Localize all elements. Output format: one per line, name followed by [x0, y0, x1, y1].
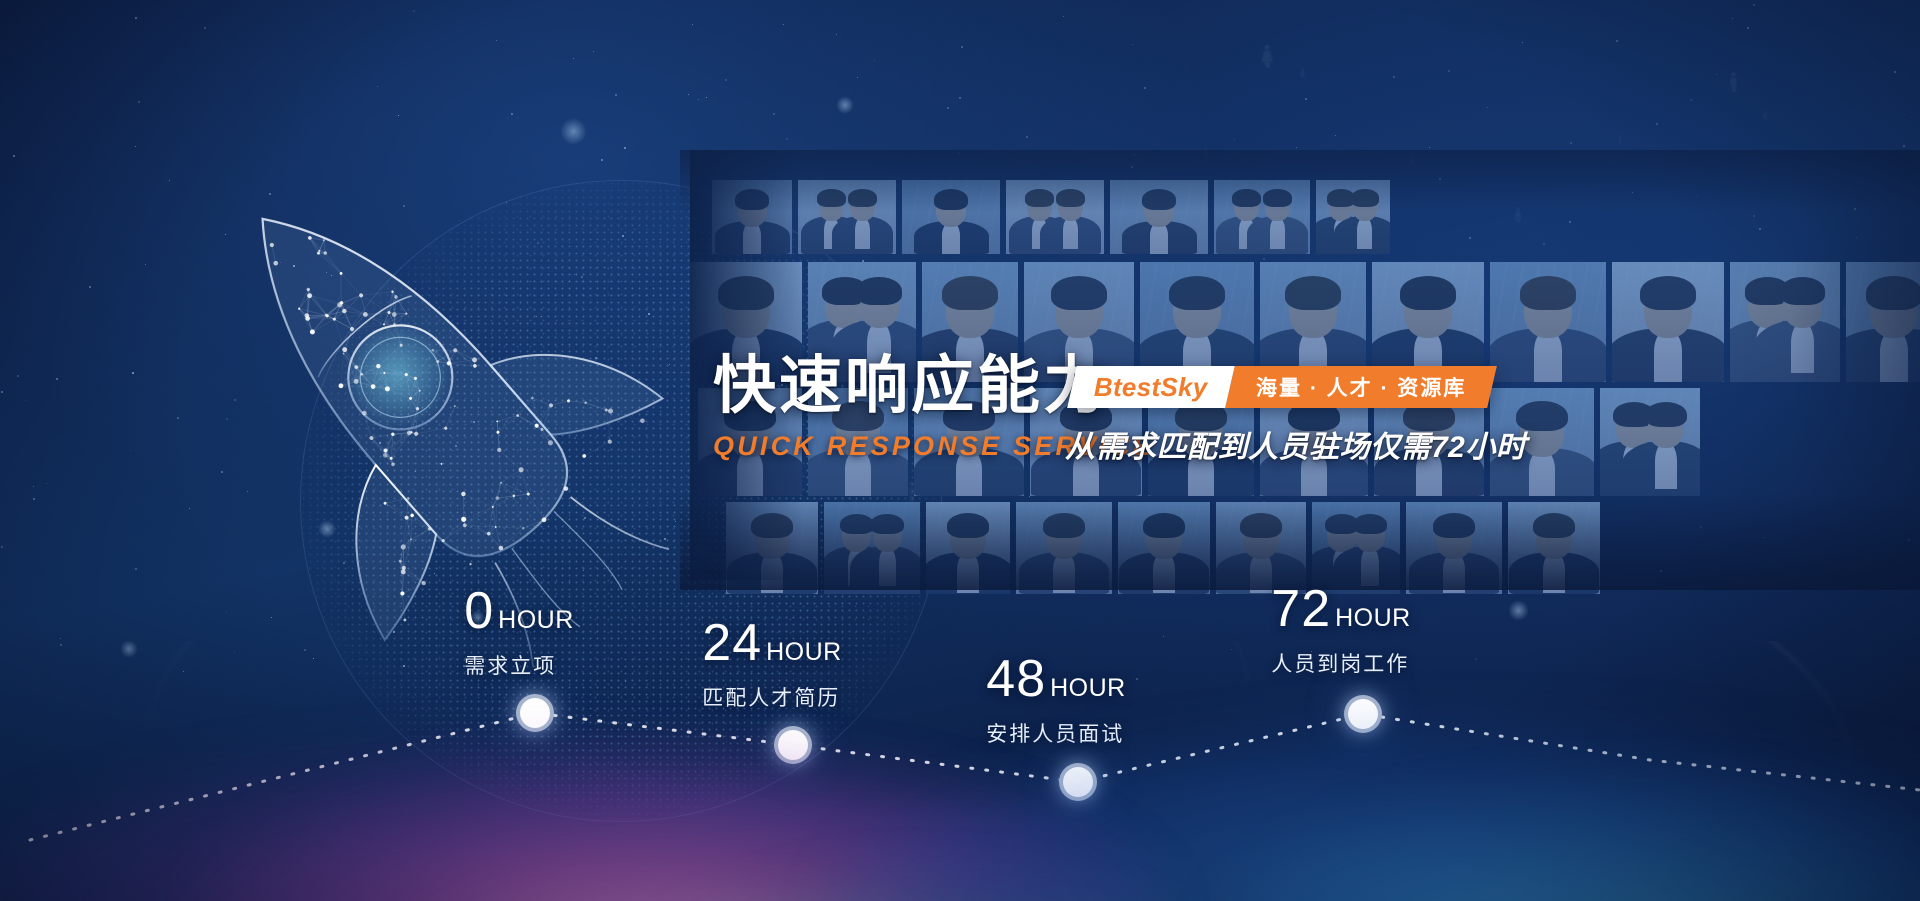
timeline-node-value: 72HOUR: [1271, 583, 1410, 635]
brand-badge-name-label: BtestSky: [1094, 372, 1208, 403]
timeline-dot-2[interactable]: [1059, 763, 1097, 801]
timeline-dot-1[interactable]: [774, 726, 812, 764]
timeline-node-unit: HOUR: [498, 608, 574, 633]
timeline-dot-3[interactable]: [1344, 695, 1382, 733]
timeline-node-value: 0HOUR: [464, 585, 574, 637]
timeline-node-3: 72HOUR人员到岗工作: [1271, 583, 1410, 678]
timeline-node-value: 48HOUR: [986, 653, 1125, 705]
timeline-node-label: 需求立项: [464, 650, 574, 680]
brand-badge: BtestSky 海量 · 人才 · 资源库: [1067, 366, 1497, 408]
timeline-dot-0[interactable]: [516, 694, 554, 732]
aurora-light-streaks: [0, 641, 1920, 901]
tagline: 从需求匹配到人员驻场仅需72小时: [1065, 422, 1526, 466]
globe-dotmatrix-icon: [300, 180, 940, 820]
rocket-wireframe-icon: [140, 120, 700, 680]
timeline-node-label: 人员到岗工作: [1271, 648, 1410, 678]
timeline-node-value: 24HOUR: [702, 617, 841, 669]
timeline-node-label: 安排人员面试: [986, 718, 1125, 748]
timeline-node-number: 24: [702, 617, 762, 669]
timeline-node-label: 匹配人才简历: [702, 682, 841, 712]
timeline-node-unit: HOUR: [1335, 606, 1411, 631]
timeline-node-1: 24HOUR匹配人才简历: [702, 617, 841, 712]
timeline-node-2: 48HOUR安排人员面试: [986, 653, 1125, 748]
timeline-node-unit: HOUR: [1050, 676, 1126, 701]
timeline-node-number: 0: [464, 585, 494, 637]
timeline-node-number: 72: [1271, 583, 1331, 635]
brand-badge-tag: 海量 · 人才 · 资源库: [1225, 366, 1497, 408]
brand-badge-name: BtestSky: [1067, 366, 1234, 408]
globe-outline: [300, 180, 942, 822]
brand-badge-tag-label: 海量 · 人才 · 资源库: [1256, 372, 1466, 402]
timeline-node-0: 0HOUR需求立项: [464, 585, 574, 680]
timeline-node-number: 48: [986, 653, 1046, 705]
banner-stage: 快速响应能力 QUICK RESPONSE SERVICE BtestSky 海…: [0, 0, 1920, 901]
timeline-node-unit: HOUR: [766, 640, 842, 665]
